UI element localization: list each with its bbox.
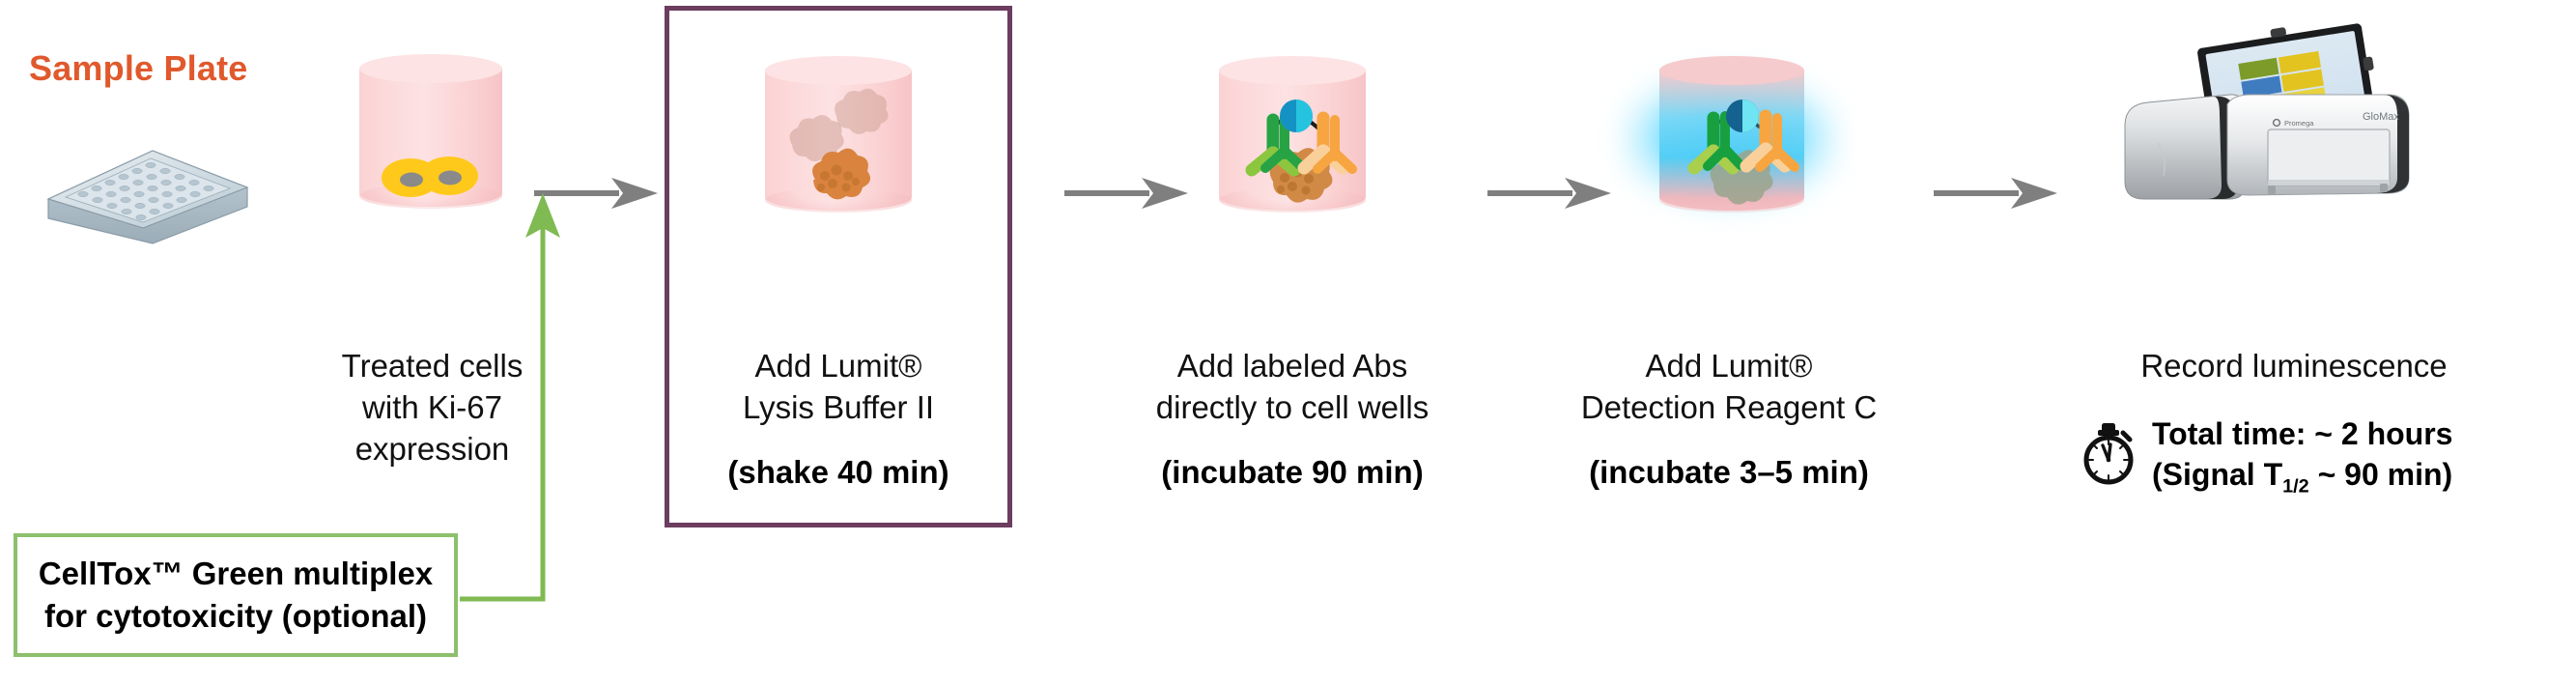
- flow-arrow-4-icon: [1934, 172, 2059, 214]
- step-caption-text: Add Lumit® Lysis Buffer II: [676, 346, 1001, 429]
- stopwatch-icon: [2079, 421, 2138, 485]
- total-time-text: Total time: ~ 2 hours: [2152, 413, 2452, 454]
- signal-halflife-text: (Signal T1/2 ~ 90 min): [2152, 454, 2452, 499]
- luminometer-instrument-icon: Promega GloMax: [2098, 21, 2426, 205]
- step-caption-text: Add labeled Abs directly to cell wells: [1111, 346, 1474, 429]
- celltox-optional-text: CellTox™ Green multiplex for cytotoxicit…: [39, 553, 433, 637]
- celltox-connector-arrow-icon: [454, 180, 580, 605]
- step-subcaption-text: (shake 40 min): [676, 452, 1001, 494]
- instrument-brand-text: Promega: [2284, 119, 2314, 128]
- sample-plate-title: Sample Plate: [29, 48, 248, 89]
- signal-suffix: ~ 90 min): [2309, 457, 2453, 492]
- cylinder-well-with-antibodies: [1219, 56, 1366, 211]
- step-subcaption-text: (incubate 90 min): [1111, 452, 1474, 494]
- cylinder-well-with-lysate: [765, 56, 912, 211]
- microplate-icon: [41, 135, 253, 251]
- instrument-model-text: GloMax: [2363, 111, 2399, 123]
- signal-prefix: (Signal T: [2152, 457, 2282, 492]
- lysed-cell-blobs-icon: [765, 56, 912, 211]
- workflow-diagram: Sample Plate: [0, 0, 2576, 684]
- step-caption-text: Record luminescence: [2086, 346, 2502, 387]
- total-time-block: Total time: ~ 2 hours (Signal T1/2 ~ 90 …: [2079, 413, 2533, 499]
- flow-arrow-2-icon: [1064, 172, 1190, 214]
- celltox-optional-box: CellTox™ Green multiplex for cytotoxicit…: [14, 533, 458, 657]
- step-caption-labeled-abs: Add labeled Abs directly to cell wells (…: [1111, 346, 1474, 494]
- step-caption-record-luminescence: Record luminescence: [2086, 346, 2502, 387]
- signal-subscript: 1/2: [2282, 476, 2309, 498]
- cylinder-well-glowing: [1659, 56, 1804, 211]
- antibody-complex-glowing-icon: [1654, 56, 1814, 218]
- step-caption-lysis-buffer: Add Lumit® Lysis Buffer II (shake 40 min…: [676, 346, 1001, 494]
- antibody-complex-icon: [1213, 56, 1375, 218]
- flow-arrow-3-icon: [1487, 172, 1613, 214]
- step-caption-text: Add Lumit® Detection Reagent C: [1536, 346, 1922, 429]
- step-caption-detection-reagent: Add Lumit® Detection Reagent C (incubate…: [1536, 346, 1922, 494]
- step-subcaption-text: (incubate 3–5 min): [1536, 452, 1922, 494]
